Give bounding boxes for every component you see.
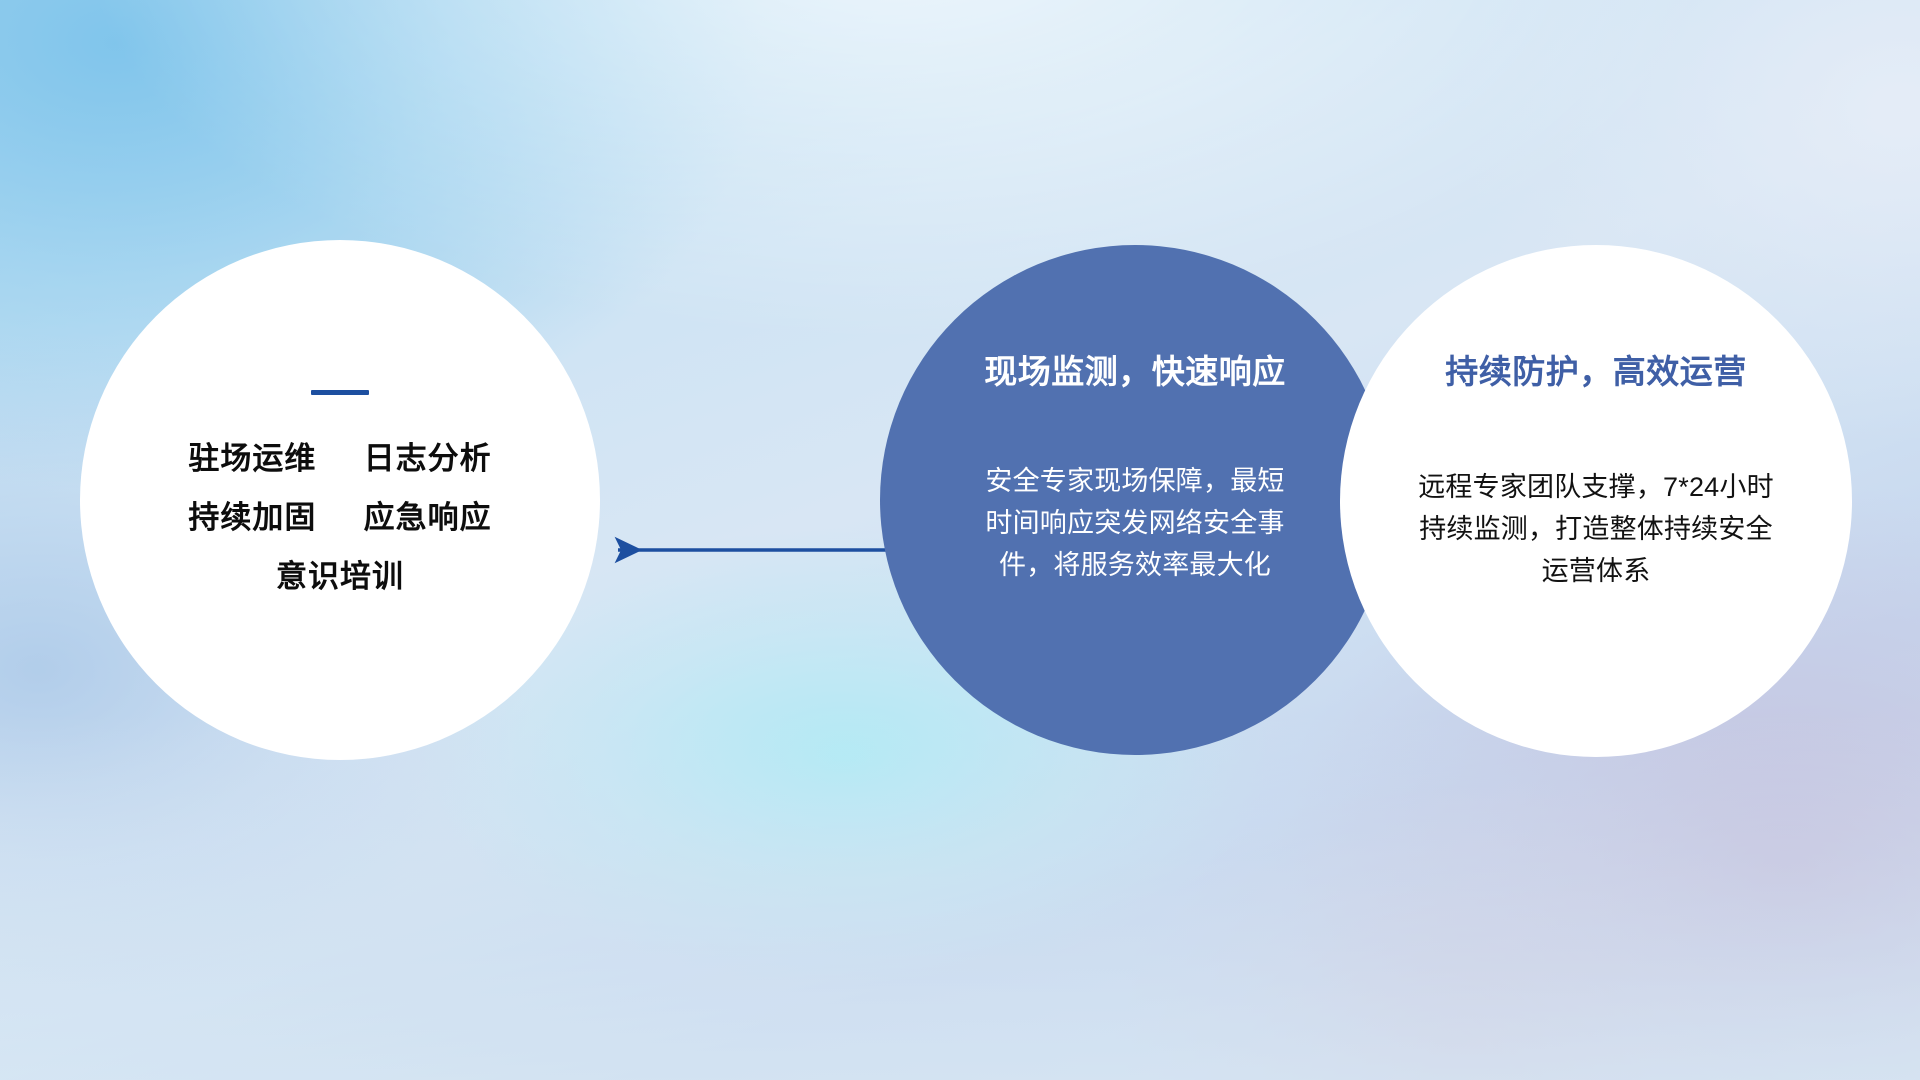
- middle-circle-body: 安全专家现场保障，最短时间响应突发网络安全事件，将服务效率最大化: [980, 460, 1290, 586]
- right-circle-title: 持续防护，高效运营: [1445, 355, 1747, 388]
- title-divider-line: [311, 390, 369, 395]
- capability-row-2: 持续加固 应急响应: [188, 502, 491, 533]
- capability-row-3: 意识培训: [276, 561, 404, 592]
- capability-item-chixu-jiagu: 持续加固: [188, 500, 316, 535]
- capability-item-yingji-xiangying: 应急响应: [364, 500, 492, 535]
- right-operations-circle[interactable]: 持续防护，高效运营 远程专家团队支撑，7*24小时持续监测，打造整体持续安全运营…: [1340, 245, 1852, 757]
- flow-arrow-left-icon: [600, 520, 900, 580]
- middle-onsite-circle[interactable]: 现场监测，快速响应 安全专家现场保障，最短时间响应突发网络安全事件，将服务效率最…: [880, 245, 1390, 755]
- slide-canvas: 驻场运维 日志分析 持续加固 应急响应 意识培训 现场监测，快速响应 安全专家现…: [0, 0, 1920, 1080]
- capability-item-zhuchang-yunwei: 驻场运维: [188, 441, 316, 476]
- right-circle-body: 远程专家团队支撑，7*24小时持续监测，打造整体持续安全运营体系: [1418, 466, 1774, 592]
- left-capability-circle[interactable]: 驻场运维 日志分析 持续加固 应急响应 意识培训: [80, 240, 600, 760]
- capability-item-yishi-peixun: 意识培训: [276, 559, 404, 594]
- capability-item-rizhi-fenxi: 日志分析: [364, 441, 492, 476]
- capability-list: 驻场运维 日志分析 持续加固 应急响应 意识培训: [188, 443, 491, 592]
- capability-row-1: 驻场运维 日志分析: [188, 443, 491, 474]
- middle-circle-title: 现场监测，快速响应: [984, 355, 1286, 388]
